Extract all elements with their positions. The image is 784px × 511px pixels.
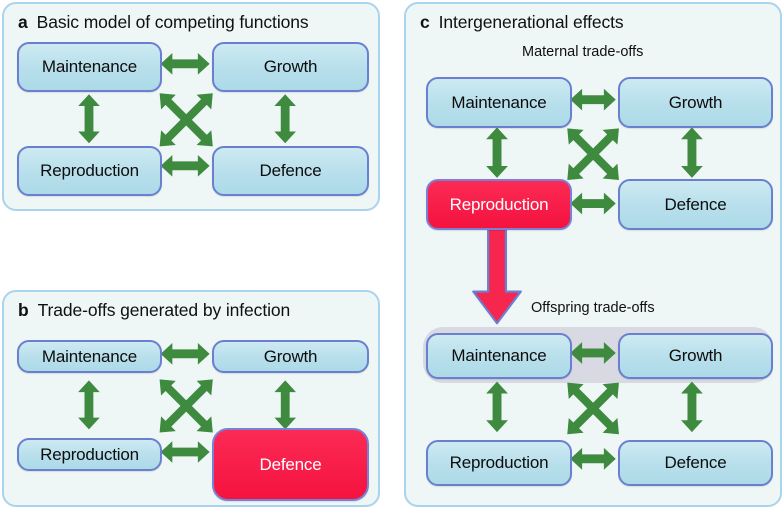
arrow-maintenance-growth-horizontal: [161, 343, 210, 365]
arrow-growth-defence-vertical: [274, 380, 296, 429]
arrow-growth-defence-vertical: [274, 94, 296, 143]
arrow-offspring-maintenance-reproduction-vertical: [486, 382, 508, 432]
panel-b-node-reproduction[interactable]: Reproduction: [17, 438, 162, 471]
arrow-maternal-growth-reproduction-diagonal: [567, 128, 619, 180]
panel-a-node-maintenance[interactable]: Maintenance: [17, 42, 162, 92]
arrow-growth-reproduction-diagonal: [160, 379, 213, 432]
panel-a-letter: a: [18, 12, 28, 32]
node-label: Growth: [669, 93, 723, 113]
panel-a-node-defence[interactable]: Defence: [212, 146, 369, 196]
panel-c-maternal-node-reproduction[interactable]: Reproduction: [426, 179, 572, 230]
panel-b-title-text: Trade-offs generated by infection: [38, 300, 291, 320]
arrow-offspring-reproduction-defence-horizontal: [570, 448, 616, 470]
panel-c-maternal-node-growth[interactable]: Growth: [618, 77, 773, 128]
arrow-maintenance-defence-diagonal: [160, 93, 213, 146]
node-label: Maintenance: [451, 93, 546, 113]
panel-c: cIntergenerational effects Maternal trad…: [404, 2, 782, 507]
arrow-maintenance-reproduction-vertical: [78, 94, 100, 143]
panel-c-title-text: Intergenerational effects: [439, 12, 624, 32]
arrow-maternal-growth-defence-vertical: [681, 127, 703, 177]
panel-c-offspring-node-growth[interactable]: Growth: [618, 333, 773, 379]
panel-c-offspring-node-defence[interactable]: Defence: [618, 440, 773, 486]
arrow-maternal-maintenance-reproduction-vertical: [486, 127, 508, 177]
arrow-reproduction-defence-horizontal: [161, 441, 210, 463]
node-label: Maintenance: [42, 347, 137, 367]
panel-c-letter: c: [420, 12, 430, 32]
arrow-maternal-maintenance-defence-diagonal: [567, 128, 619, 180]
node-label: Maintenance: [451, 346, 546, 366]
panel-c-offspring-node-reproduction[interactable]: Reproduction: [426, 440, 572, 486]
node-label: Reproduction: [450, 195, 549, 215]
arrow-maintenance-reproduction-vertical: [78, 380, 100, 429]
panel-c-offspring-node-maintenance[interactable]: Maintenance: [426, 333, 572, 379]
arrow-offspring-growth-defence-vertical: [681, 382, 703, 432]
panel-c-maternal-node-defence[interactable]: Defence: [618, 179, 773, 230]
node-label: Reproduction: [40, 161, 139, 181]
panel-b-node-maintenance[interactable]: Maintenance: [17, 340, 162, 373]
node-label: Growth: [264, 347, 318, 367]
panel-a-title-text: Basic model of competing functions: [37, 12, 309, 32]
panel-a-title: aBasic model of competing functions: [18, 12, 309, 33]
panel-a-node-growth[interactable]: Growth: [212, 42, 369, 92]
node-label: Reproduction: [450, 453, 549, 473]
arrow-maternal-maintenance-growth-horizontal: [570, 89, 616, 111]
node-label: Maintenance: [42, 57, 137, 77]
arrow-growth-reproduction-diagonal: [160, 93, 213, 146]
node-label: Defence: [260, 161, 322, 181]
arrow-offspring-maintenance-defence-diagonal: [567, 383, 619, 435]
panel-b-title: bTrade-offs generated by infection: [18, 300, 290, 321]
panel-b-node-defence[interactable]: Defence: [212, 428, 369, 501]
arrow-intergenerational-maternal-to-offspring: [473, 220, 520, 323]
node-label: Growth: [264, 57, 318, 77]
arrow-maintenance-defence-diagonal: [160, 379, 213, 432]
panel-b-letter: b: [18, 300, 29, 320]
panel-c-title: cIntergenerational effects: [420, 12, 624, 33]
node-label: Defence: [260, 455, 322, 475]
maternal-trade-offs-label: Maternal trade-offs: [522, 44, 643, 60]
panel-a: aBasic model of competing functions Main…: [2, 2, 380, 211]
panel-a-node-reproduction[interactable]: Reproduction: [17, 146, 162, 196]
panel-b-node-growth[interactable]: Growth: [212, 340, 369, 373]
node-label: Reproduction: [40, 445, 139, 465]
offspring-trade-offs-label: Offspring trade-offs: [531, 300, 655, 316]
arrow-maintenance-growth-horizontal: [161, 53, 210, 75]
panel-b: bTrade-offs generated by infection Maint…: [2, 290, 380, 507]
arrow-offspring-growth-reproduction-diagonal: [567, 383, 619, 435]
arrow-maternal-reproduction-defence-horizontal: [570, 193, 616, 215]
panel-c-maternal-node-maintenance[interactable]: Maintenance: [426, 77, 572, 128]
arrow-reproduction-defence-horizontal: [161, 155, 210, 177]
node-label: Defence: [665, 195, 727, 215]
node-label: Defence: [665, 453, 727, 473]
node-label: Growth: [669, 346, 723, 366]
